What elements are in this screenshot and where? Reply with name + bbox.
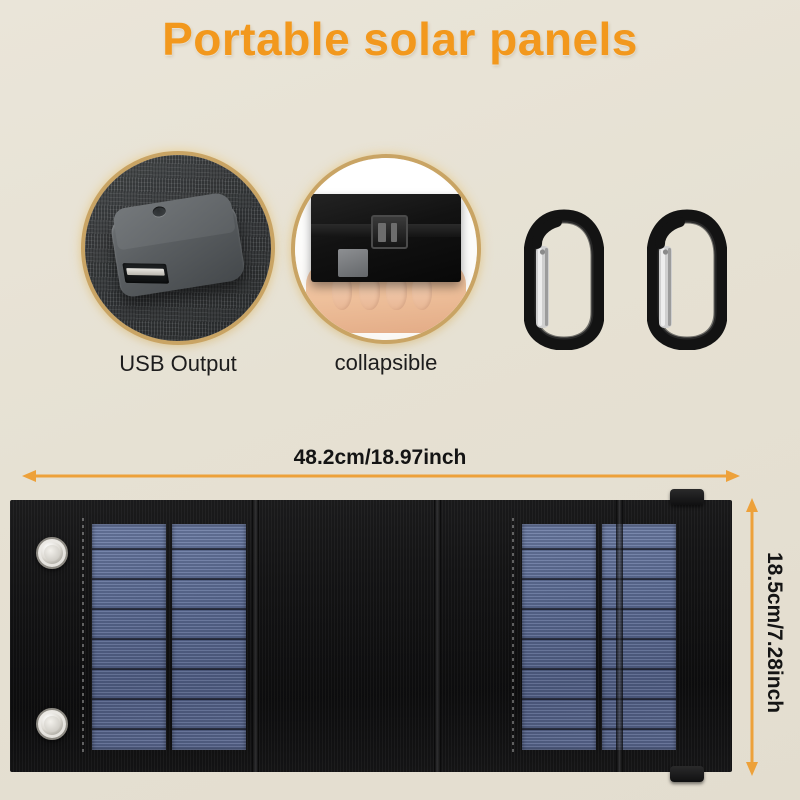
collapsible-photo bbox=[295, 158, 477, 340]
panel-gray-patch bbox=[338, 249, 368, 277]
led-indicator-icon bbox=[152, 205, 166, 217]
panel-section-4 bbox=[624, 500, 732, 772]
solar-panel-product bbox=[10, 500, 732, 772]
feature-collapsible: collapsible bbox=[295, 158, 477, 340]
height-dimension-arrow bbox=[742, 496, 762, 783]
height-dimension-label: 18.5cm/7.28inch bbox=[762, 552, 786, 713]
feature-usb-output: USB Output bbox=[85, 155, 271, 341]
fold-seam bbox=[252, 500, 259, 772]
hanging-tab-bottom bbox=[670, 766, 704, 782]
usb-a-port-icon bbox=[122, 263, 169, 284]
grommet-bottom-left bbox=[36, 708, 68, 740]
page-title: Portable solar panels bbox=[0, 12, 800, 66]
panel-section-1 bbox=[10, 500, 196, 772]
carabiner-icon bbox=[524, 208, 604, 350]
usb-output-photo bbox=[85, 155, 271, 341]
panel-section-3 bbox=[442, 500, 618, 772]
fold-seam bbox=[616, 500, 623, 772]
buckle-icon bbox=[371, 215, 408, 249]
cell-column bbox=[92, 524, 166, 750]
feature-label-usb-output: USB Output bbox=[85, 351, 271, 377]
carabiner-right bbox=[647, 208, 727, 350]
carabiner-left bbox=[524, 208, 604, 350]
folded-solar-panel bbox=[311, 194, 460, 281]
width-dimension-arrow bbox=[20, 466, 742, 491]
hanging-tab-top bbox=[670, 489, 704, 505]
panel-section-2 bbox=[260, 500, 436, 772]
cell-column bbox=[172, 524, 246, 750]
carabiner-icon bbox=[647, 208, 727, 350]
fold-seam bbox=[434, 500, 441, 772]
product-infographic: Portable solar panels USB Output bbox=[0, 0, 800, 800]
feature-label-collapsible: collapsible bbox=[295, 350, 477, 376]
stitching bbox=[82, 518, 84, 754]
grommet-top-left bbox=[36, 537, 68, 569]
